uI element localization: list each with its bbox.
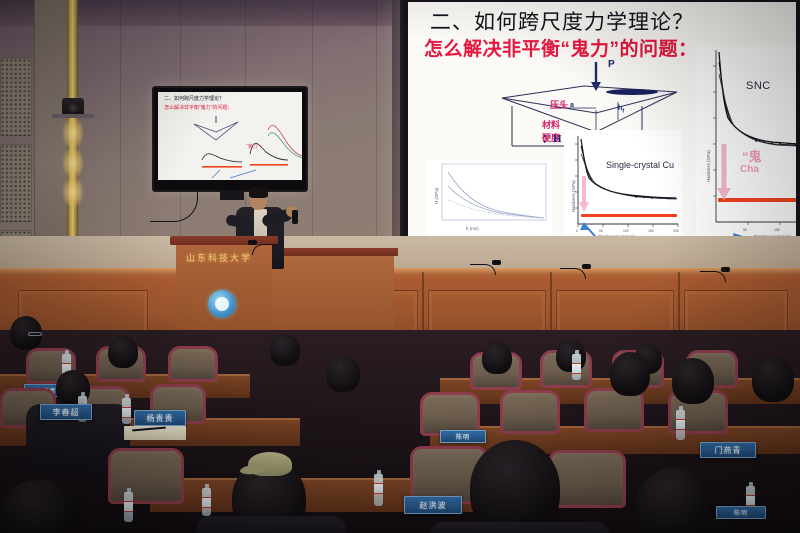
audience-head — [108, 336, 138, 368]
name-placard: 赵洪波 — [404, 496, 462, 514]
monitor-slide-title: 二、如何跨尺度力学理论？ — [164, 95, 224, 102]
audience-seat — [500, 390, 560, 434]
stage-back-wall — [0, 236, 800, 270]
name-placard: 陈明 — [716, 506, 766, 519]
audience-head — [470, 440, 560, 533]
monitor-slide-subtitle: 怎么解决非平衡“鬼力”的问题： — [164, 104, 232, 111]
ghost-label-1: “鬼 — [742, 146, 762, 165]
stage-top-trim — [0, 268, 800, 275]
a-label: a — [570, 102, 574, 109]
chart-3-title: SNC — [746, 80, 771, 92]
confidence-monitor: 二、如何跨尺度力学理论？ 怎么解决非平衡“鬼力”的问题： 传统理论刻画 “鬼力” — [152, 86, 308, 192]
water-bottle — [124, 492, 133, 522]
name-placard: 陈明 — [440, 430, 486, 443]
chart-3-ylabel: Hardness (GPa) — [706, 150, 711, 182]
audience-head — [0, 480, 80, 533]
svg-text:“鬼力”: “鬼力” — [246, 143, 260, 150]
stage-table-top — [264, 248, 398, 256]
audience-shoulders — [430, 522, 610, 533]
university-emblem-icon — [208, 290, 236, 318]
name-placard: 杨贵贵 — [134, 410, 186, 426]
monitor-slide-graphics: 传统理论刻画 “鬼力” — [160, 114, 302, 180]
audience-head — [556, 340, 586, 372]
light-bracket — [52, 114, 94, 118]
water-bottle — [374, 474, 383, 506]
audience-head — [636, 468, 714, 533]
slide-subtitle: 怎么解决非平衡“鬼力”的问题： — [424, 34, 698, 61]
chart-2-title: Single-crystal Cu — [606, 160, 674, 170]
screen-surface: 二、如何跨尺度力学理论？ 怎么解决非平衡“鬼力”的问题： P — [408, 2, 796, 270]
speaker-hair — [249, 187, 268, 198]
light-glow — [62, 116, 84, 150]
light-glow — [62, 176, 84, 208]
audience-head — [610, 352, 650, 396]
water-bottle — [202, 488, 211, 516]
audience-seat — [108, 448, 184, 504]
confidence-monitor-screen: 二、如何跨尺度力学理论？ 怎么解决非平衡“鬼力”的问题： 传统理论刻画 “鬼力” — [158, 92, 302, 180]
monitor-stand — [220, 190, 244, 200]
indenter-label: 压头 — [550, 98, 568, 111]
ghost-label-2: Cha — [740, 164, 759, 175]
audience-seat — [168, 346, 218, 382]
audience-head — [752, 356, 794, 402]
acoustic-panel — [0, 144, 32, 222]
baseball-cap — [248, 452, 292, 476]
hf-label: hf — [618, 105, 624, 114]
lecture-hall-photo: 二、如何跨尺度力学理论？ 怎么解决非平衡“鬼力”的问题： P — [0, 0, 800, 533]
audience-head — [270, 334, 300, 366]
water-bottle — [676, 410, 685, 440]
svg-text:传统理论刻画: 传统理论刻画 — [208, 179, 232, 180]
audience-head — [482, 342, 512, 374]
light-glow — [62, 146, 84, 180]
name-placard: 门燕青 — [700, 442, 756, 458]
water-bottle — [122, 398, 131, 424]
presentation-slide: 二、如何跨尺度力学理论？ 怎么解决非平衡“鬼力”的问题： P — [408, 2, 796, 270]
audience-shoulders — [196, 516, 346, 533]
water-bottle — [572, 354, 581, 380]
eyeglasses — [28, 332, 42, 336]
audience-head — [672, 358, 714, 404]
name-placard: 李春超 — [40, 404, 92, 420]
slide-title: 二、如何跨尺度力学理论？ — [430, 6, 695, 36]
podium-university-name: 山东科技大学 — [186, 251, 252, 264]
presentation-clicker[interactable] — [292, 210, 298, 224]
audience-head — [326, 356, 360, 392]
acoustic-panel — [0, 58, 32, 136]
